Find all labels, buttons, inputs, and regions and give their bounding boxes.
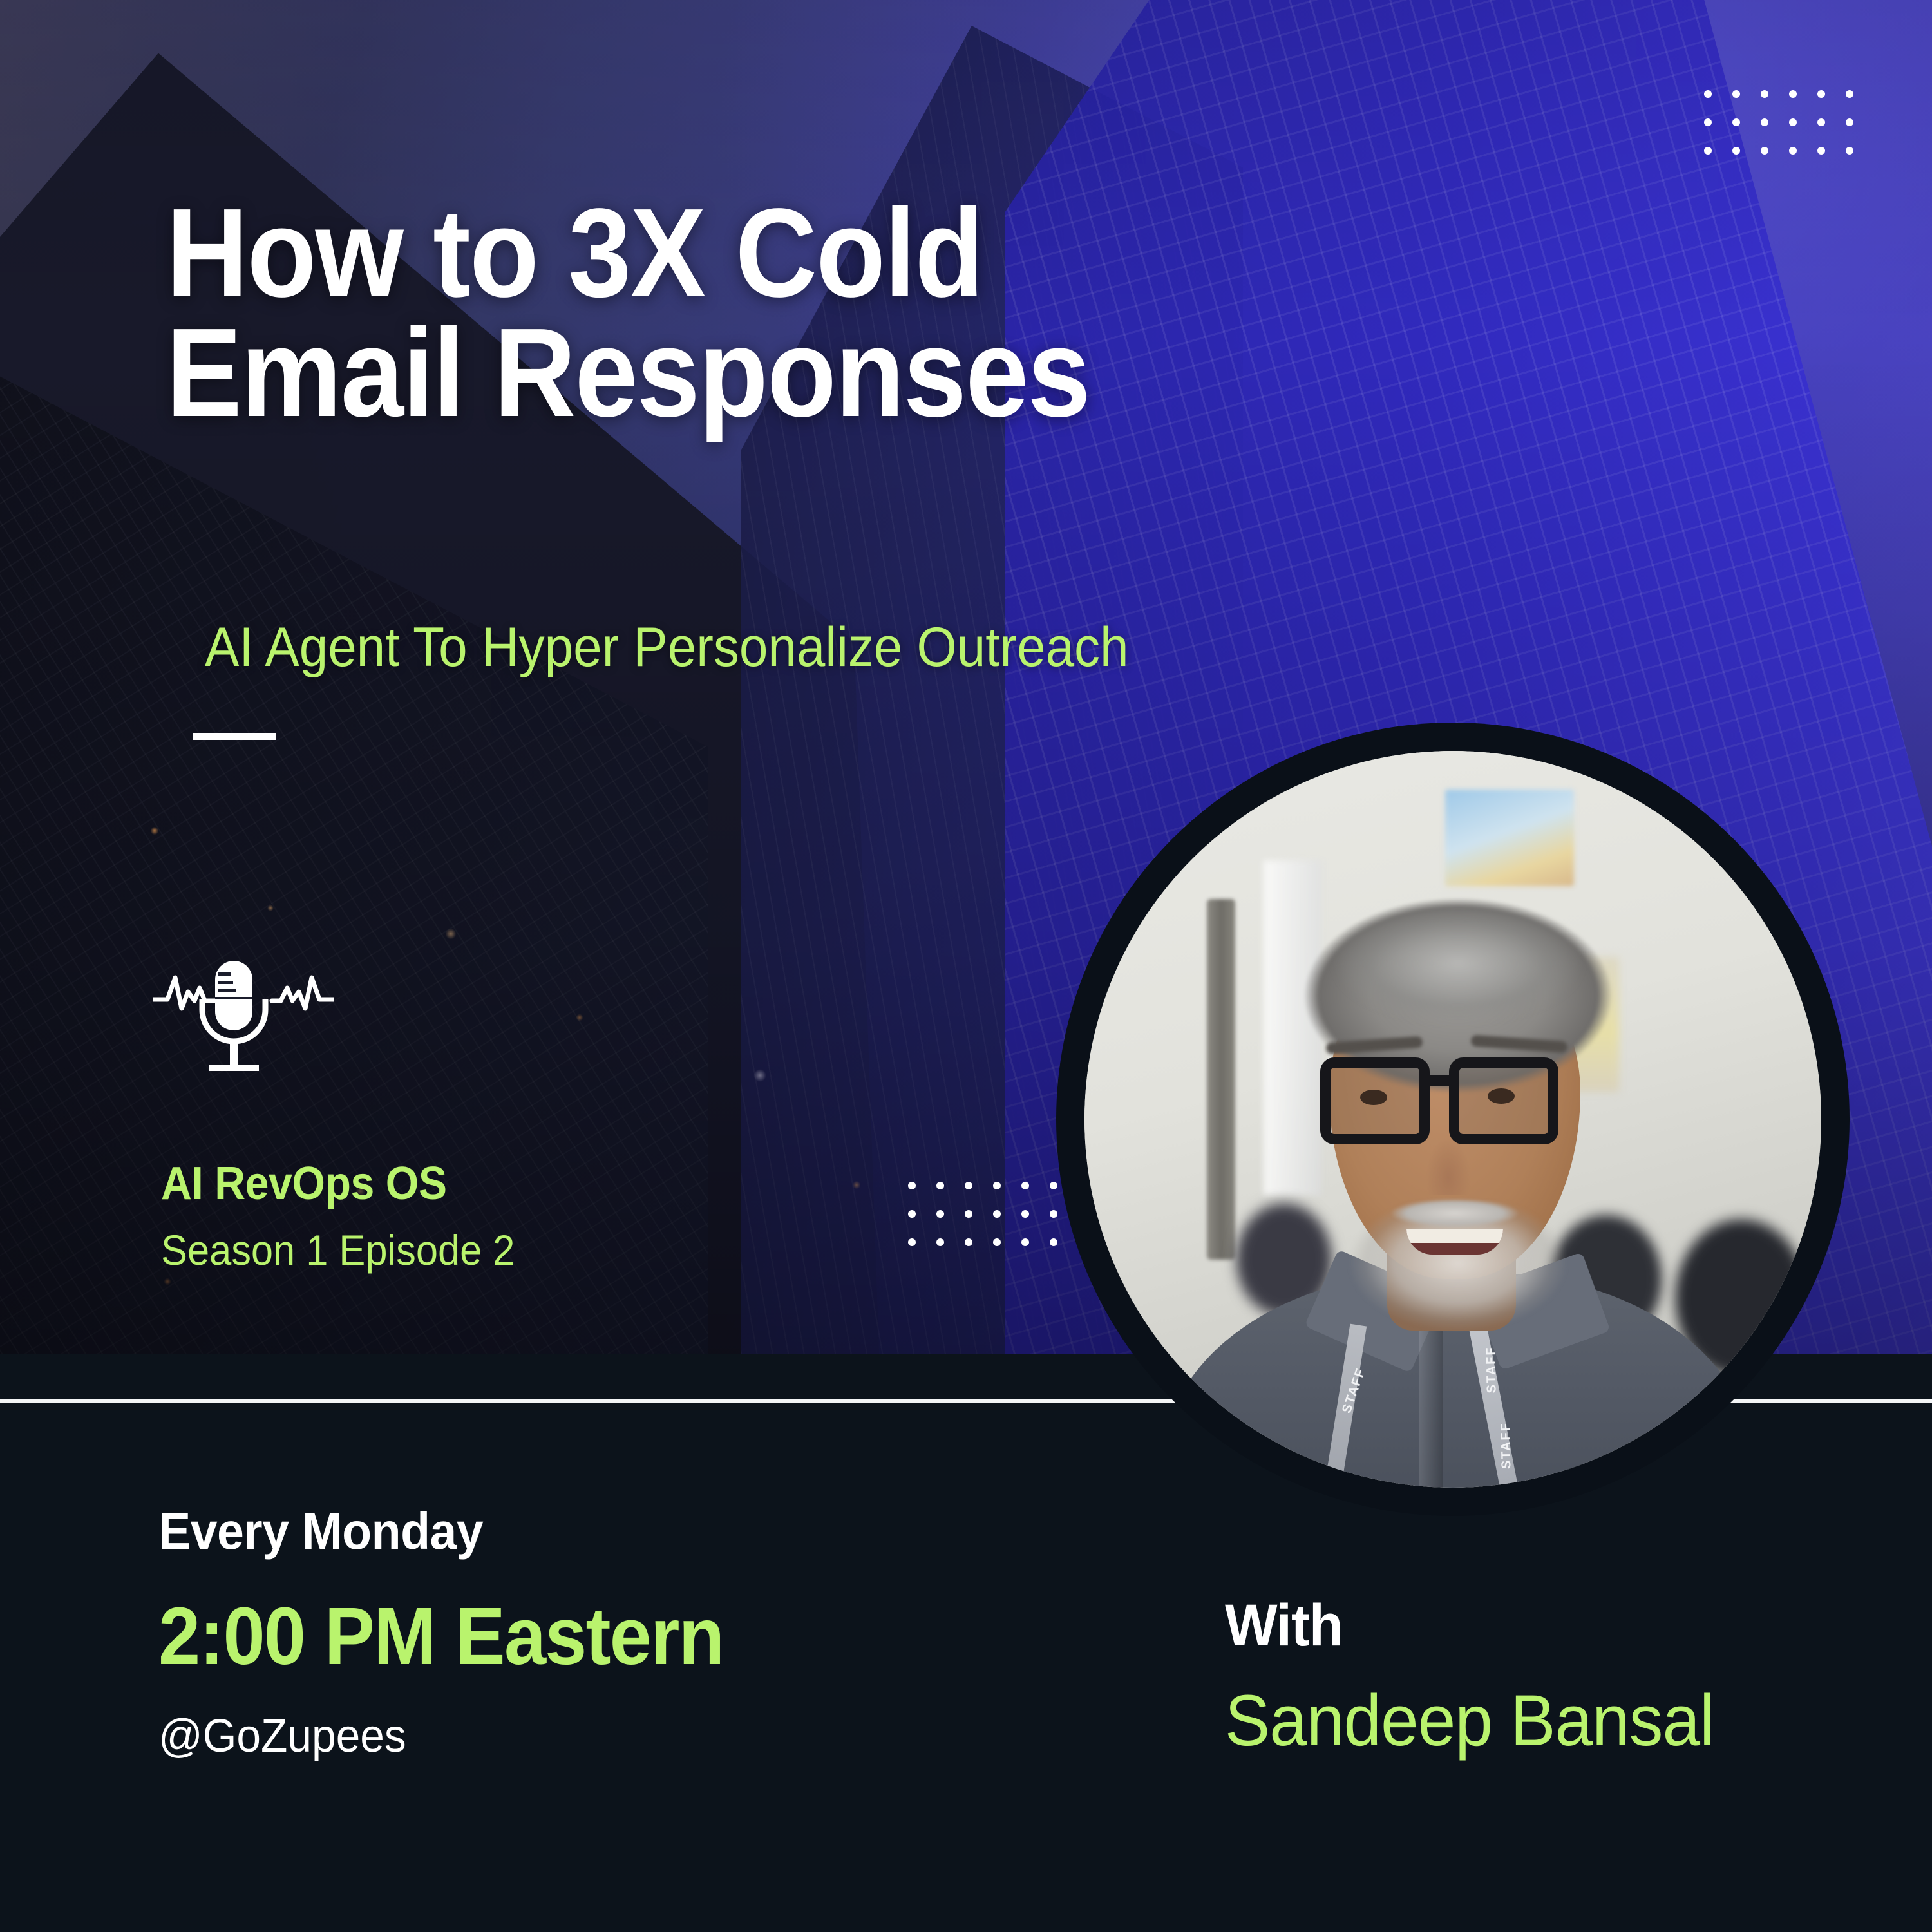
episode-headline: How to 3X Cold Email Responses: [166, 193, 1383, 433]
schedule-time: 2:00 PM Eastern: [158, 1596, 723, 1677]
guest-mouth: [1406, 1229, 1503, 1255]
schedule-cadence: Every Monday: [158, 1506, 483, 1557]
dot-grid-top-right-icon: [1704, 90, 1874, 175]
guest-eye-left: [1360, 1090, 1387, 1105]
podcast-microphone-icon: [153, 958, 334, 1087]
dot-grid-mid-left-icon: [908, 1182, 1078, 1267]
episode-label: Season 1 Episode 2: [161, 1229, 515, 1271]
guest-photo: STAFF STAFF STAFF: [1084, 751, 1821, 1488]
guest-name: Sandeep Bansal: [1225, 1685, 1714, 1757]
decorative-rule-dash: [193, 733, 276, 740]
guest-teeth: [1406, 1229, 1503, 1243]
podcast-episode-poster: How to 3X Cold Email Responses AI Agent …: [0, 0, 1932, 1932]
guest-avatar: STAFF STAFF STAFF: [1056, 723, 1850, 1516]
guest-eye-right: [1488, 1088, 1515, 1104]
lanyard-text-right-2: STAFF: [1499, 1422, 1514, 1469]
wall-poster: [1445, 790, 1574, 886]
guest-eyeglasses-icon: [1316, 1054, 1593, 1150]
guest-hair-highlight: [1297, 886, 1619, 1047]
guest-with-label: With: [1225, 1596, 1343, 1655]
show-name: AI RevOps OS: [161, 1160, 447, 1207]
headline-line-2: Email Responses: [166, 313, 1383, 433]
guest-moustache: [1374, 1195, 1535, 1231]
eyeglass-bridge: [1425, 1075, 1458, 1086]
social-handle: @GoZupees: [158, 1713, 406, 1759]
episode-subtitle: AI Agent To Hyper Personalize Outreach: [205, 620, 1129, 675]
